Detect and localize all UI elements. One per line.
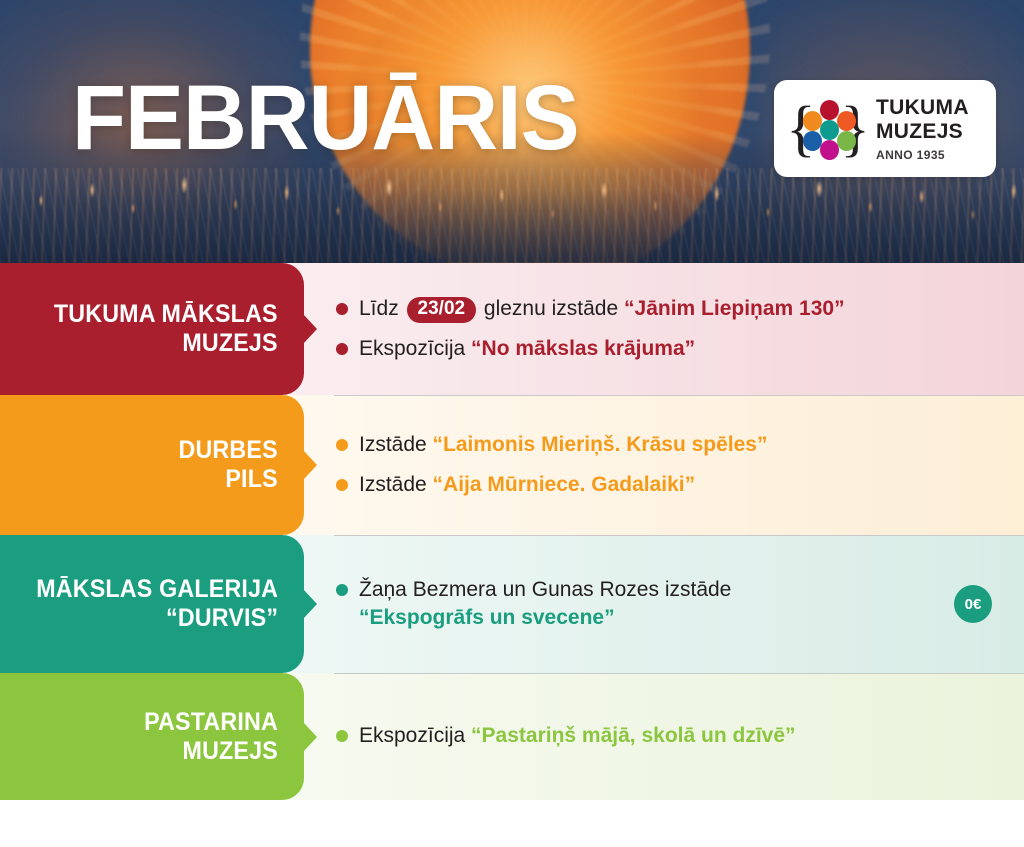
event-item[interactable]: Žaņa Bezmera un Gunas Rozes izstāde “Eks… xyxy=(336,576,1024,632)
header-banner: FEBRUĀRIS { } TUKUMA MUZEJS ANNO 1935 xyxy=(0,0,1024,263)
event-title: “Laimonis Mieriņš. Krāsu spēles” xyxy=(433,433,768,456)
venue-tab-label: PASTARINA MUZEJS xyxy=(144,708,278,766)
month-title: FEBRUĀRIS xyxy=(72,72,579,164)
row-divider xyxy=(334,395,1024,396)
venue-tab[interactable]: TUKUMA MĀKSLAS MUZEJS xyxy=(0,263,304,395)
logo-dot xyxy=(837,111,856,131)
event-title: “Pastariņš mājā, skolā un dzīvē” xyxy=(471,724,795,747)
date-badge: 23/02 xyxy=(407,297,477,323)
event-text: Izstāde “Laimonis Mieriņš. Krāsu spēles” xyxy=(359,431,768,459)
museum-logo: { } TUKUMA MUZEJS ANNO 1935 xyxy=(774,80,996,177)
event-prefix: Izstāde xyxy=(359,473,433,496)
event-title: “Ekspogrāfs un svecene” xyxy=(359,606,615,629)
event-text: Līdz 23/02 gleznu izstāde “Jānim Liepiņa… xyxy=(359,295,845,323)
event-text: Izstāde “Aija Mūrniece. Gadalaiki” xyxy=(359,471,695,499)
event-text: Ekspozīcija “No mākslas krājuma” xyxy=(359,335,695,363)
row-divider xyxy=(334,535,1024,536)
event-prefix: Līdz xyxy=(359,297,405,320)
logo-mark: { } xyxy=(786,92,870,166)
logo-line-1: TUKUMA xyxy=(876,97,969,118)
event-item[interactable]: Ekspozīcija “No mākslas krājuma” xyxy=(336,335,1024,363)
tab-notch-icon xyxy=(303,722,317,752)
venue-tab-label: MĀKSLAS GALERIJA “DURVIS” xyxy=(36,575,278,633)
event-list: Žaņa Bezmera un Gunas Rozes izstāde “Eks… xyxy=(304,535,1024,673)
event-prefix: Ekspozīcija xyxy=(359,337,471,360)
logo-dot xyxy=(820,100,839,120)
bullet-icon xyxy=(336,303,348,315)
event-title: “Aija Mūrniece. Gadalaiki” xyxy=(433,473,696,496)
tab-notch-icon xyxy=(303,314,317,344)
event-list: Izstāde “Laimonis Mieriņš. Krāsu spēles”… xyxy=(304,395,1024,535)
logo-dot xyxy=(820,120,839,140)
logo-dots-icon xyxy=(802,100,858,158)
program-row: PASTARINA MUZEJSEkspozīcija “Pastariņš m… xyxy=(0,673,1024,800)
program-row: DURBES PILSIzstāde “Laimonis Mieriņš. Kr… xyxy=(0,395,1024,535)
bullet-icon xyxy=(336,584,348,596)
event-list: Ekspozīcija “Pastariņš mājā, skolā un dz… xyxy=(304,673,1024,800)
event-item[interactable]: Izstāde “Laimonis Mieriņš. Krāsu spēles” xyxy=(336,431,1024,459)
program-row: TUKUMA MĀKSLAS MUZEJSLīdz 23/02 gleznu i… xyxy=(0,263,1024,395)
logo-dot xyxy=(837,131,856,151)
logo-wordmark: TUKUMA MUZEJS ANNO 1935 xyxy=(876,97,969,161)
event-item[interactable]: Izstāde “Aija Mūrniece. Gadalaiki” xyxy=(336,471,1024,499)
bullet-icon xyxy=(336,479,348,491)
event-prefix: Izstāde xyxy=(359,433,433,456)
bullet-icon xyxy=(336,730,348,742)
event-middle-text: gleznu izstāde xyxy=(478,297,624,320)
venue-tab[interactable]: DURBES PILS xyxy=(0,395,304,535)
logo-dot xyxy=(820,140,839,160)
event-prefix: Ekspozīcija xyxy=(359,724,471,747)
event-title: “Jānim Liepiņam 130” xyxy=(624,297,845,320)
venue-tab-label: TUKUMA MĀKSLAS MUZEJS xyxy=(54,300,278,358)
event-prefix: Žaņa Bezmera un Gunas Rozes izstāde xyxy=(359,578,731,601)
event-title: “No mākslas krājuma” xyxy=(471,337,695,360)
bullet-icon xyxy=(336,439,348,451)
row-divider xyxy=(334,673,1024,674)
program-rows: TUKUMA MĀKSLAS MUZEJSLīdz 23/02 gleznu i… xyxy=(0,263,1024,800)
event-item[interactable]: Līdz 23/02 gleznu izstāde “Jānim Liepiņa… xyxy=(336,295,1024,323)
event-item[interactable]: Ekspozīcija “Pastariņš mājā, skolā un dz… xyxy=(336,722,1024,750)
tab-notch-icon xyxy=(303,589,317,619)
poster-page: FEBRUĀRIS { } TUKUMA MUZEJS ANNO 1935 TU… xyxy=(0,0,1024,847)
venue-tab[interactable]: MĀKSLAS GALERIJA “DURVIS” xyxy=(0,535,304,673)
free-entry-badge: 0€ xyxy=(954,585,992,623)
event-text: Ekspozīcija “Pastariņš mājā, skolā un dz… xyxy=(359,722,796,750)
event-text: Žaņa Bezmera un Gunas Rozes izstāde “Eks… xyxy=(359,576,731,632)
tab-notch-icon xyxy=(303,450,317,480)
venue-tab[interactable]: PASTARINA MUZEJS xyxy=(0,673,304,800)
venue-tab-label: DURBES PILS xyxy=(179,436,278,494)
event-list: Līdz 23/02 gleznu izstāde “Jānim Liepiņa… xyxy=(304,263,1024,395)
program-row: MĀKSLAS GALERIJA “DURVIS”Žaņa Bezmera un… xyxy=(0,535,1024,673)
logo-line-2: MUZEJS xyxy=(876,121,969,142)
logo-line-3: ANNO 1935 xyxy=(876,149,969,161)
bullet-icon xyxy=(336,343,348,355)
